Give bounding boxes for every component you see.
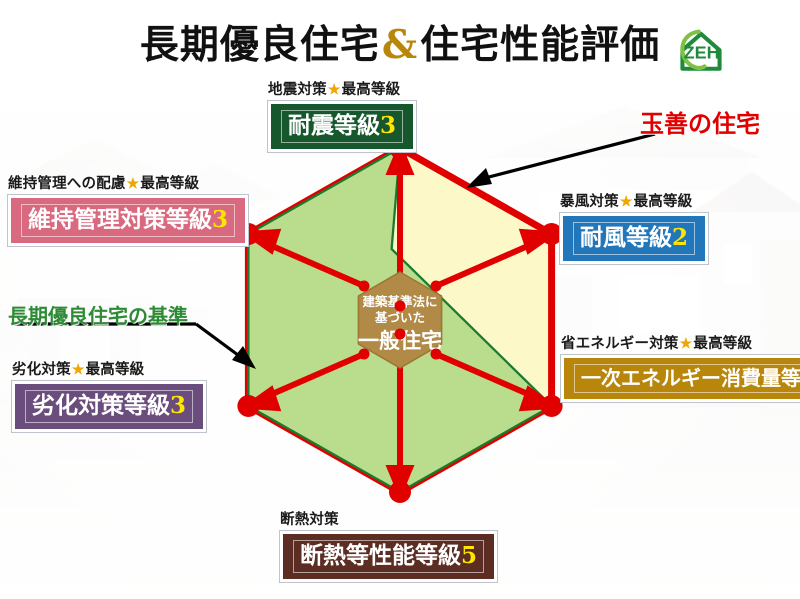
star-icon: ★ <box>327 82 342 98</box>
card-box-insulation: 断熱等性能等級5 <box>280 531 497 581</box>
star-icon: ★ <box>679 336 694 352</box>
leader-line-tamazen <box>430 128 660 208</box>
card-value-text: 断熱等性能等級 <box>300 542 461 569</box>
card-caption-quake: 地震対策★最高等級 <box>268 82 416 98</box>
caption-pre: 維持管理への配慮 <box>8 175 126 192</box>
title-part-1: 長期優良住宅 <box>140 22 380 68</box>
center-label-line-2: 基づいた <box>374 310 425 325</box>
card-box-quake: 耐震等級3 <box>268 101 416 151</box>
title-part-2: 住宅性能評価 <box>420 22 660 68</box>
caption-pre: 断熱対策 <box>280 511 339 528</box>
card-value-text: 劣化対策等級 <box>32 392 170 419</box>
caption-pre: 省エネルギー対策 <box>561 335 679 352</box>
caption-post: 最高等級 <box>693 335 752 352</box>
caption-pre: 地震対策 <box>268 81 327 98</box>
card-value-text: 耐風等級 <box>580 224 672 251</box>
title-ampersand: & <box>380 22 420 68</box>
zeh-logo-text: ZEH <box>684 42 720 62</box>
infographic-canvas: 長期優良住宅&住宅性能評価 ZEH <box>0 0 800 599</box>
label-card-insulation[interactable]: 断熱対策 断熱等性能等級5 <box>280 512 497 582</box>
star-icon: ★ <box>126 176 141 192</box>
annotation-tamazen-house: 玉善の住宅 <box>640 104 760 139</box>
card-box-wind: 耐風等級2 <box>560 213 708 263</box>
card-caption-maintenance: 維持管理への配慮★最高等級 <box>8 176 248 192</box>
card-value-num: 2 <box>672 224 688 251</box>
label-card-energy[interactable]: 省エネルギー対策★最高等級 一次エネルギー消費量等級6 <box>561 336 800 402</box>
card-value-text: 耐震等級 <box>288 112 380 139</box>
vertex-dot-degradation <box>237 395 259 417</box>
zeh-logo-icon: ZEH <box>672 20 730 78</box>
card-value-num: 3 <box>380 112 396 139</box>
card-box-energy: 一次エネルギー消費量等級6 <box>561 355 800 402</box>
card-box-degradation: 劣化対策等級3 <box>12 381 206 431</box>
label-card-quake[interactable]: 地震対策★最高等級 耐震等級3 <box>268 82 416 152</box>
annotation-choki-yuryo-kijun: 長期優良住宅の基準 <box>8 300 188 329</box>
vertex-dot-insulation <box>389 481 411 503</box>
card-box-maintenance: 維持管理対策等級3 <box>8 195 248 245</box>
vertex-dot-energy <box>541 395 563 417</box>
card-value-num: 3 <box>212 206 228 233</box>
caption-post: 最高等級 <box>140 175 199 192</box>
card-value-text: 一次エネルギー消費量等級 <box>581 366 800 390</box>
caption-post: 最高等級 <box>342 81 401 98</box>
card-caption-energy: 省エネルギー対策★最高等級 <box>561 336 800 352</box>
card-value-num: 3 <box>170 392 186 419</box>
card-value-text: 維持管理対策等級 <box>28 206 212 233</box>
star-icon <box>339 512 341 528</box>
label-card-maintenance[interactable]: 維持管理への配慮★最高等級 維持管理対策等級3 <box>8 176 248 246</box>
card-value-num: 5 <box>461 542 477 569</box>
card-caption-insulation: 断熱対策 <box>280 512 497 528</box>
